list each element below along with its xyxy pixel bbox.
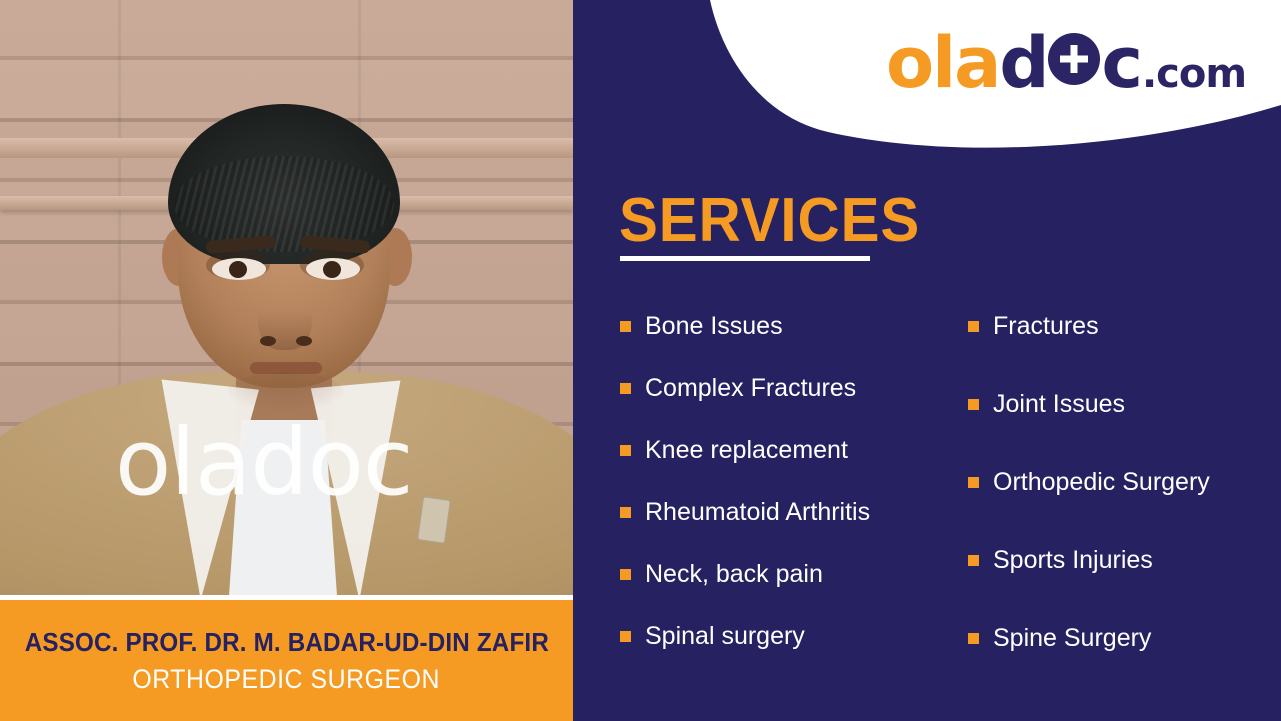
square-bullet-icon [620,507,631,518]
eye-left [212,258,266,280]
service-list-item[interactable]: Joint Issues [968,390,1268,418]
service-label: Orthopedic Surgery [993,468,1210,496]
left-photo-panel: oladoc ASSOC. PROF. DR. M. BADAR-UD-DIN … [0,0,573,721]
doctor-name-banner: ASSOC. PROF. DR. M. BADAR-UD-DIN ZAFIR O… [0,600,573,721]
service-list-item[interactable]: Complex Fractures [620,374,950,402]
square-bullet-icon [620,321,631,332]
services-right-column: FracturesJoint IssuesOrthopedic SurgeryS… [968,312,1268,702]
oladoc-watermark: oladoc [115,420,495,506]
square-bullet-icon [620,445,631,456]
service-label: Complex Fractures [645,374,856,402]
service-list-item[interactable]: Neck, back pain [620,560,950,588]
service-label: Sports Injuries [993,546,1153,574]
nostril-right [296,336,312,346]
logo-text-dotcom: .com [1142,54,1246,94]
service-label: Spinal surgery [645,622,805,650]
service-label: Bone Issues [645,312,783,340]
service-label: Knee replacement [645,436,848,464]
logo-text-ola: ola [886,28,999,98]
services-title: SERVICES [619,190,920,252]
service-label: Spine Surgery [993,624,1151,652]
service-list-item[interactable]: Sports Injuries [968,546,1268,574]
service-list-item[interactable]: Fractures [968,312,1268,340]
square-bullet-icon [968,555,979,566]
square-bullet-icon [620,631,631,642]
square-bullet-icon [620,569,631,580]
square-bullet-icon [968,321,979,332]
square-bullet-icon [968,477,979,488]
services-title-underline [620,256,870,261]
doctor-photo: oladoc [0,0,573,597]
service-label: Neck, back pain [645,560,823,588]
service-label: Fractures [993,312,1099,340]
logo-text-d: d [999,28,1047,98]
service-list-item[interactable]: Orthopedic Surgery [968,468,1268,496]
promo-card: oladoc ASSOC. PROF. DR. M. BADAR-UD-DIN … [0,0,1281,721]
service-list-item[interactable]: Spine Surgery [968,624,1268,652]
square-bullet-icon [968,633,979,644]
doctor-specialty: ORTHOPEDIC SURGEON [133,664,441,695]
nostril-left [260,336,276,346]
square-bullet-icon [968,399,979,410]
service-list-item[interactable]: Knee replacement [620,436,950,464]
o-with-plus-icon [1048,33,1100,85]
oladoc-logo[interactable]: ola d c .com [886,28,1246,100]
service-label: Rheumatoid Arthritis [645,498,870,526]
logo-text-c: c [1101,28,1141,98]
chin [228,372,344,412]
doctor-name: ASSOC. PROF. DR. M. BADAR-UD-DIN ZAFIR [24,627,548,658]
services-left-column: Bone IssuesComplex FracturesKnee replace… [620,312,950,684]
service-label: Joint Issues [993,390,1125,418]
square-bullet-icon [620,383,631,394]
service-list-item[interactable]: Rheumatoid Arthritis [620,498,950,526]
eye-right [306,258,360,280]
service-list-item[interactable]: Bone Issues [620,312,950,340]
service-list-item[interactable]: Spinal surgery [620,622,950,650]
